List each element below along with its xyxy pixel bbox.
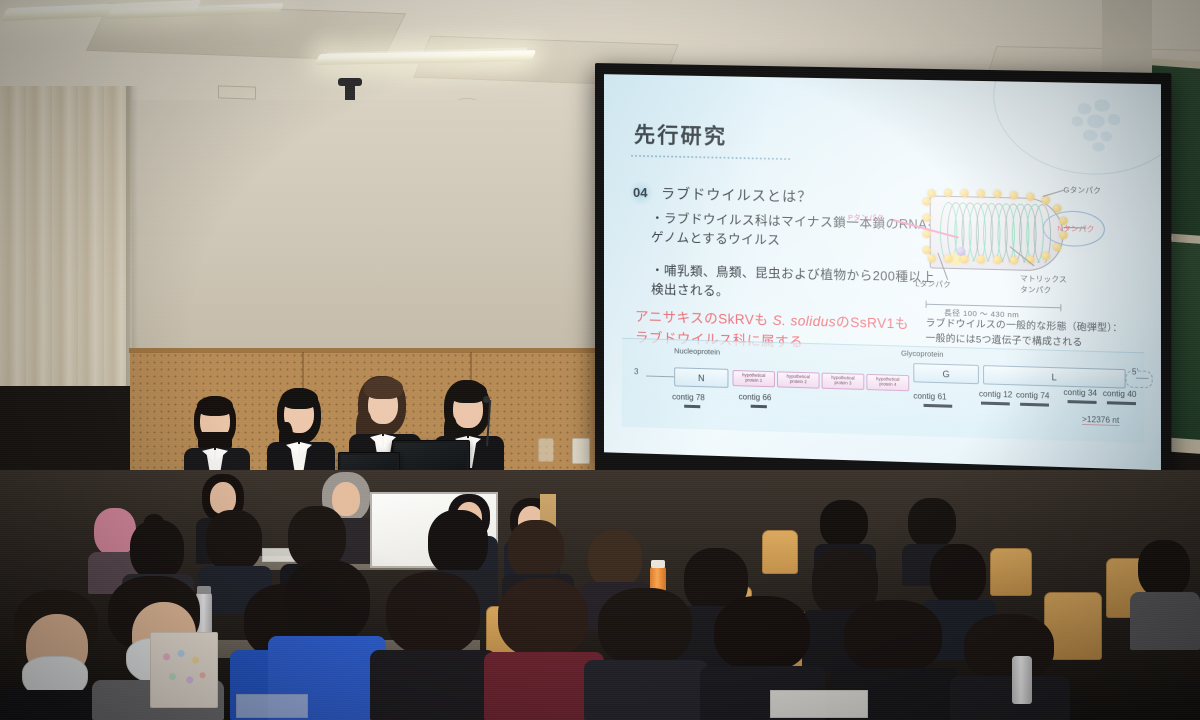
contig-label-66: contig 66 [739, 392, 772, 402]
torso [1130, 592, 1200, 650]
ceiling-light [325, 50, 326, 51]
highlight-line1-b: のSsRV1も [836, 314, 909, 331]
hair [498, 578, 588, 658]
audience-member-front-10 [950, 614, 1070, 720]
bottle-cap [651, 560, 665, 568]
wood-panel-trim [129, 348, 601, 353]
hair [508, 520, 564, 580]
hair-front [449, 381, 487, 403]
genome-length-label: >12376 nt [1082, 415, 1119, 426]
gene-box-l: L [983, 365, 1126, 388]
tote-bag [150, 632, 218, 708]
hair [964, 614, 1054, 682]
hair [714, 596, 810, 672]
group-label-glycoprotein: Glycoprotein [901, 349, 943, 359]
projection-screen: 先行研究 04 ラブドウイルスとは？ ・ラブドウイルス科はマイナス鎖一本鎖のRN… [595, 63, 1171, 492]
label-p-protein: Pタンパク [848, 212, 884, 224]
genome-end-dashed [1126, 370, 1153, 388]
hair [930, 544, 986, 606]
curtain-shadow [126, 86, 138, 386]
decorative-cells-icon [1070, 97, 1134, 153]
hair [284, 560, 370, 644]
wall-switch [538, 438, 554, 462]
audience-member-front-5 [370, 572, 496, 720]
hair [206, 510, 262, 572]
contig-label-40: contig 40 [1103, 389, 1137, 399]
label-l-protein: Lタンパク [915, 278, 951, 290]
hair [1138, 540, 1190, 598]
contig-label-61: contig 61 [913, 391, 946, 401]
hair-bun [144, 514, 164, 530]
chair-back [762, 530, 798, 574]
torso [370, 650, 496, 720]
hair [386, 572, 480, 656]
gene-box-hypothetical-1: hypothetical protein 1 [733, 370, 775, 387]
label-n-protein: Nタンパク [1057, 223, 1094, 235]
hair-front [197, 396, 233, 416]
handout-paper [236, 694, 308, 718]
window-curtain [0, 86, 132, 386]
highlight-species-italic: S. solidus [773, 313, 836, 330]
genome-map: Nucleoprotein Glycoprotein 3 N hypotheti… [622, 338, 1144, 443]
contig-label-74: contig 74 [1016, 390, 1049, 400]
rhabdovirus-diagram: Nタンパク Gタンパク Pタンパク Lタンパク マトリックス タンパク [907, 173, 1103, 297]
hair-front [364, 377, 403, 399]
audience-member-mid-11 [1130, 540, 1200, 650]
torso [950, 676, 1070, 720]
slide-title: 先行研究 [634, 119, 727, 151]
label-g-protein: Gタンパク [1063, 184, 1101, 196]
label-matrix-protein: マトリックス タンパク [1020, 273, 1067, 297]
hair-front [281, 388, 318, 409]
slide-question: ラブドウイルスとは？ [661, 183, 812, 207]
handout-paper [770, 690, 868, 718]
gene-box-n: N [674, 367, 728, 388]
genome-5prime-label: 5' [1132, 367, 1138, 376]
slide-section-number: 04 [633, 185, 647, 200]
group-label-nucleoprotein: Nucleoprotein [674, 346, 720, 356]
audience-member-front-7 [584, 588, 708, 720]
contig-label-78: contig 78 [672, 392, 705, 402]
water-bottle [1012, 656, 1032, 704]
gene-box-hypothetical-4: hypothetical protein 4 [866, 374, 909, 391]
microphone-head [483, 396, 490, 403]
virion-dimension-label: 長径 100 〜 430 nm [944, 307, 1019, 320]
projected-slide: 先行研究 04 ラブドウイルスとは？ ・ラブドウイルス科はマイナス鎖一本鎖のRN… [604, 74, 1161, 470]
slide-bullet-2: ・哺乳類、鳥類、昆虫および植物から200種以上 検出される。 [651, 261, 935, 306]
wall-outlet [572, 438, 590, 464]
lecture-hall-photo: 先行研究 04 ラブドウイルスとは？ ・ラブドウイルス科はマイナス鎖一本鎖のRN… [0, 0, 1200, 720]
hair [820, 500, 868, 548]
hair [908, 498, 956, 548]
highlight-line1-a: アニサキスのSkRVも [635, 309, 773, 328]
tote-bag-print [155, 637, 213, 703]
hair [428, 510, 488, 576]
genome-3prime-label: 3 [634, 367, 638, 376]
gene-box-hypothetical-2: hypothetical protein 2 [777, 371, 820, 388]
gene-box-hypothetical-3: hypothetical protein 3 [822, 373, 865, 390]
gene-box-g: G [913, 363, 979, 384]
contig-label-12: contig 12 [979, 389, 1012, 399]
slide-title-underline [630, 155, 791, 160]
hair [598, 588, 692, 666]
ceiling-vent [218, 85, 256, 99]
contig-label-34: contig 34 [1063, 388, 1097, 398]
hair [844, 600, 942, 674]
slide-bullet-1: ・ラブドウイルス科はマイナス鎖一本鎖のRNAを ゲノムとするウイルス [651, 209, 940, 254]
torso [584, 660, 708, 720]
